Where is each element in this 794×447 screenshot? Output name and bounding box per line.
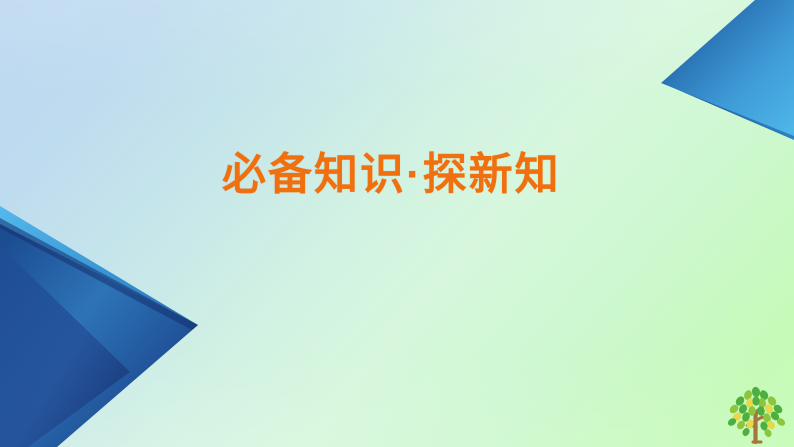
slide-background: [0, 0, 794, 447]
tree-icon: [726, 382, 788, 444]
page-title: 必备知识·探新知: [222, 150, 561, 201]
slide-canvas: 必备知识·探新知: [0, 0, 794, 447]
